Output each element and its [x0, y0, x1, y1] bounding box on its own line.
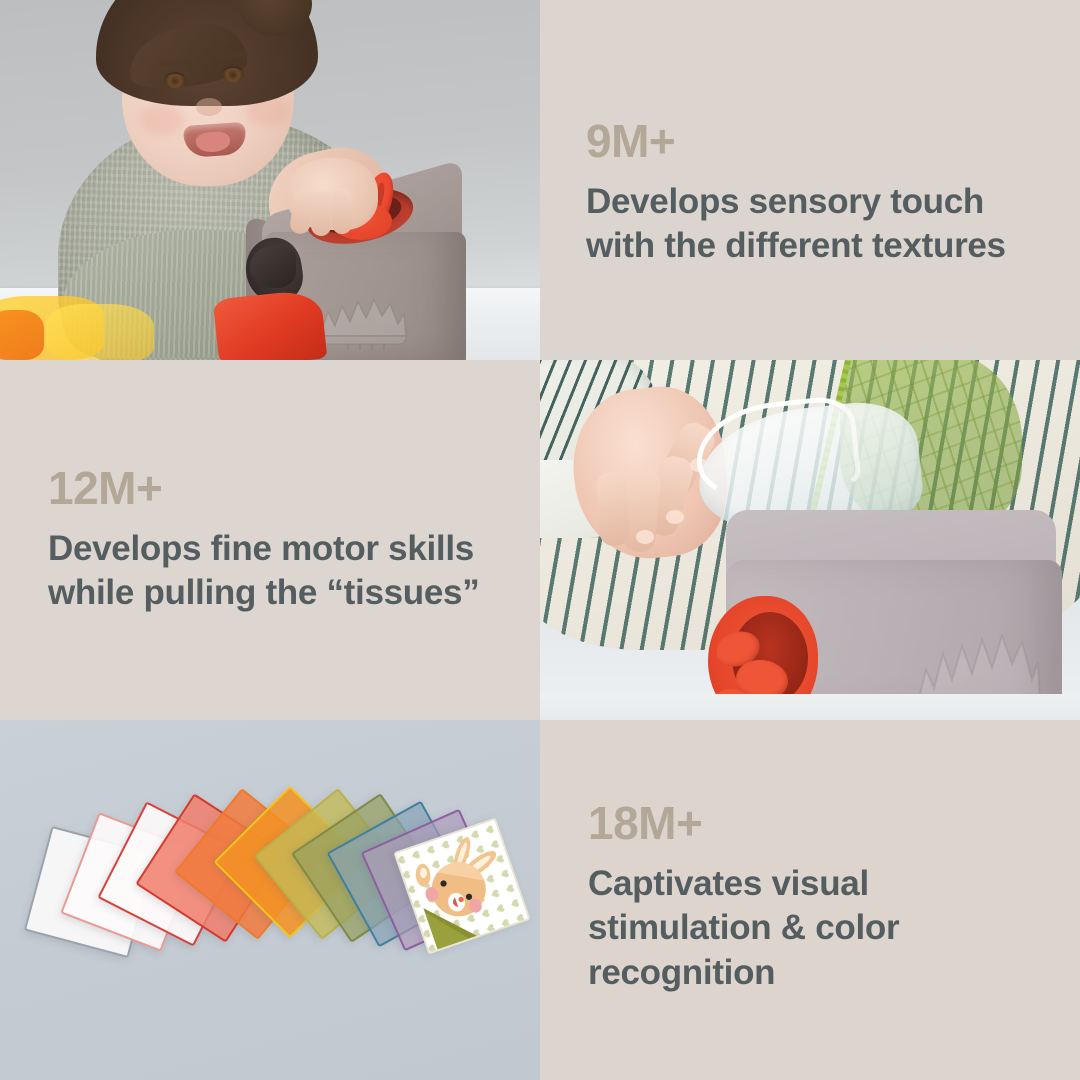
photo-scarves: [0, 720, 540, 1080]
age-label-12m: 12M+: [48, 465, 510, 511]
description-18m-line-2: stimulation & color: [588, 906, 1050, 950]
finger-3: [332, 188, 352, 234]
description-9m-line-2: with the different textures: [586, 224, 1046, 268]
age-label-9m: 9M+: [586, 118, 1046, 164]
description-18m: Captivates visual stimulation & color re…: [588, 862, 1050, 995]
description-12m: Develops fine motor skills while pulling…: [48, 527, 510, 616]
red-scarf: [213, 289, 328, 360]
finger-2: [310, 189, 333, 236]
eye-right: [222, 68, 244, 82]
fingernail-3: [636, 530, 654, 544]
description-12m-line-2: while pulling the “tissues”: [48, 571, 510, 615]
description-18m-line-1: Captivates visual: [588, 862, 1050, 906]
milestone-grid: 9M+ Develops sensory touch with the diff…: [0, 0, 1080, 1080]
description-18m-line-3: recognition: [588, 951, 1050, 995]
photo-toddler: [0, 0, 540, 360]
text-panel-9m: 9M+ Develops sensory touch with the diff…: [540, 0, 1080, 360]
description-12m-line-1: Develops fine motor skills: [48, 527, 510, 571]
photo-pulling: [540, 360, 1080, 720]
eye-left: [164, 74, 186, 88]
age-label-18m: 18M+: [588, 800, 1050, 846]
orange-scarf-1: [0, 310, 44, 360]
cheek-left: [140, 104, 184, 134]
yellow-scarf-2: [46, 304, 154, 360]
fingernail-2: [666, 510, 684, 524]
text-panel-18m: 18M+ Captivates visual stimulation & col…: [540, 720, 1080, 1080]
description-9m: Develops sensory touch with the differen…: [586, 180, 1046, 269]
table-surface-2: [540, 694, 1080, 720]
description-9m-line-1: Develops sensory touch: [586, 180, 1046, 224]
nose: [196, 98, 222, 116]
dark-scarf: [250, 246, 296, 288]
finger-little: [595, 471, 630, 547]
scarf-fan: [0, 720, 540, 1080]
text-panel-12m: 12M+ Develops fine motor skills while pu…: [0, 360, 540, 720]
